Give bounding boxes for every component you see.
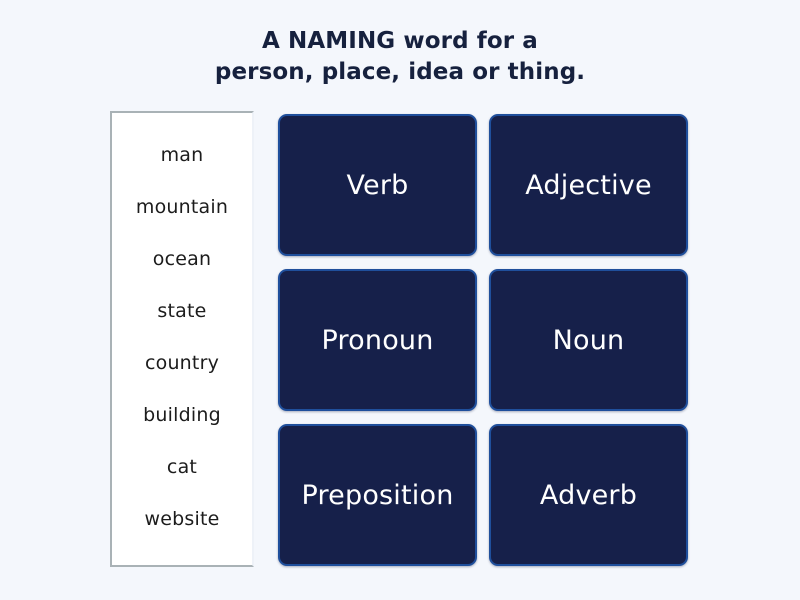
answer-tile-label: Adjective bbox=[525, 172, 652, 199]
question-prompt-line-1: A NAMING word for a bbox=[0, 26, 800, 57]
answer-tile-preposition[interactable]: Preposition bbox=[278, 424, 477, 566]
answer-tile-noun[interactable]: Noun bbox=[489, 269, 688, 411]
list-item[interactable]: cat bbox=[112, 441, 252, 493]
answer-tile-grid: Verb Adjective Pronoun Noun Preposition … bbox=[278, 114, 688, 566]
list-item[interactable]: country bbox=[112, 337, 252, 389]
list-item[interactable]: man bbox=[112, 129, 252, 181]
answer-tile-label: Adverb bbox=[540, 482, 637, 509]
list-item[interactable]: website bbox=[112, 493, 252, 545]
answer-tile-verb[interactable]: Verb bbox=[278, 114, 477, 256]
list-item[interactable]: building bbox=[112, 389, 252, 441]
answer-tile-adverb[interactable]: Adverb bbox=[489, 424, 688, 566]
word-list: man mountain ocean state country buildin… bbox=[112, 129, 252, 545]
answer-tile-label: Verb bbox=[346, 172, 408, 199]
answer-tile-pronoun[interactable]: Pronoun bbox=[278, 269, 477, 411]
answer-tile-label: Preposition bbox=[301, 482, 453, 509]
word-list-panel[interactable]: man mountain ocean state country buildin… bbox=[110, 111, 254, 567]
answer-tile-label: Noun bbox=[553, 327, 625, 354]
list-item[interactable]: mountain bbox=[112, 181, 252, 233]
list-item[interactable]: ocean bbox=[112, 233, 252, 285]
question-prompt-line-2: person, place, idea or thing. bbox=[0, 57, 800, 88]
question-prompt: A NAMING word for a person, place, idea … bbox=[0, 26, 800, 88]
answer-tile-adjective[interactable]: Adjective bbox=[489, 114, 688, 256]
list-item[interactable]: state bbox=[112, 285, 252, 337]
answer-tile-label: Pronoun bbox=[321, 327, 433, 354]
